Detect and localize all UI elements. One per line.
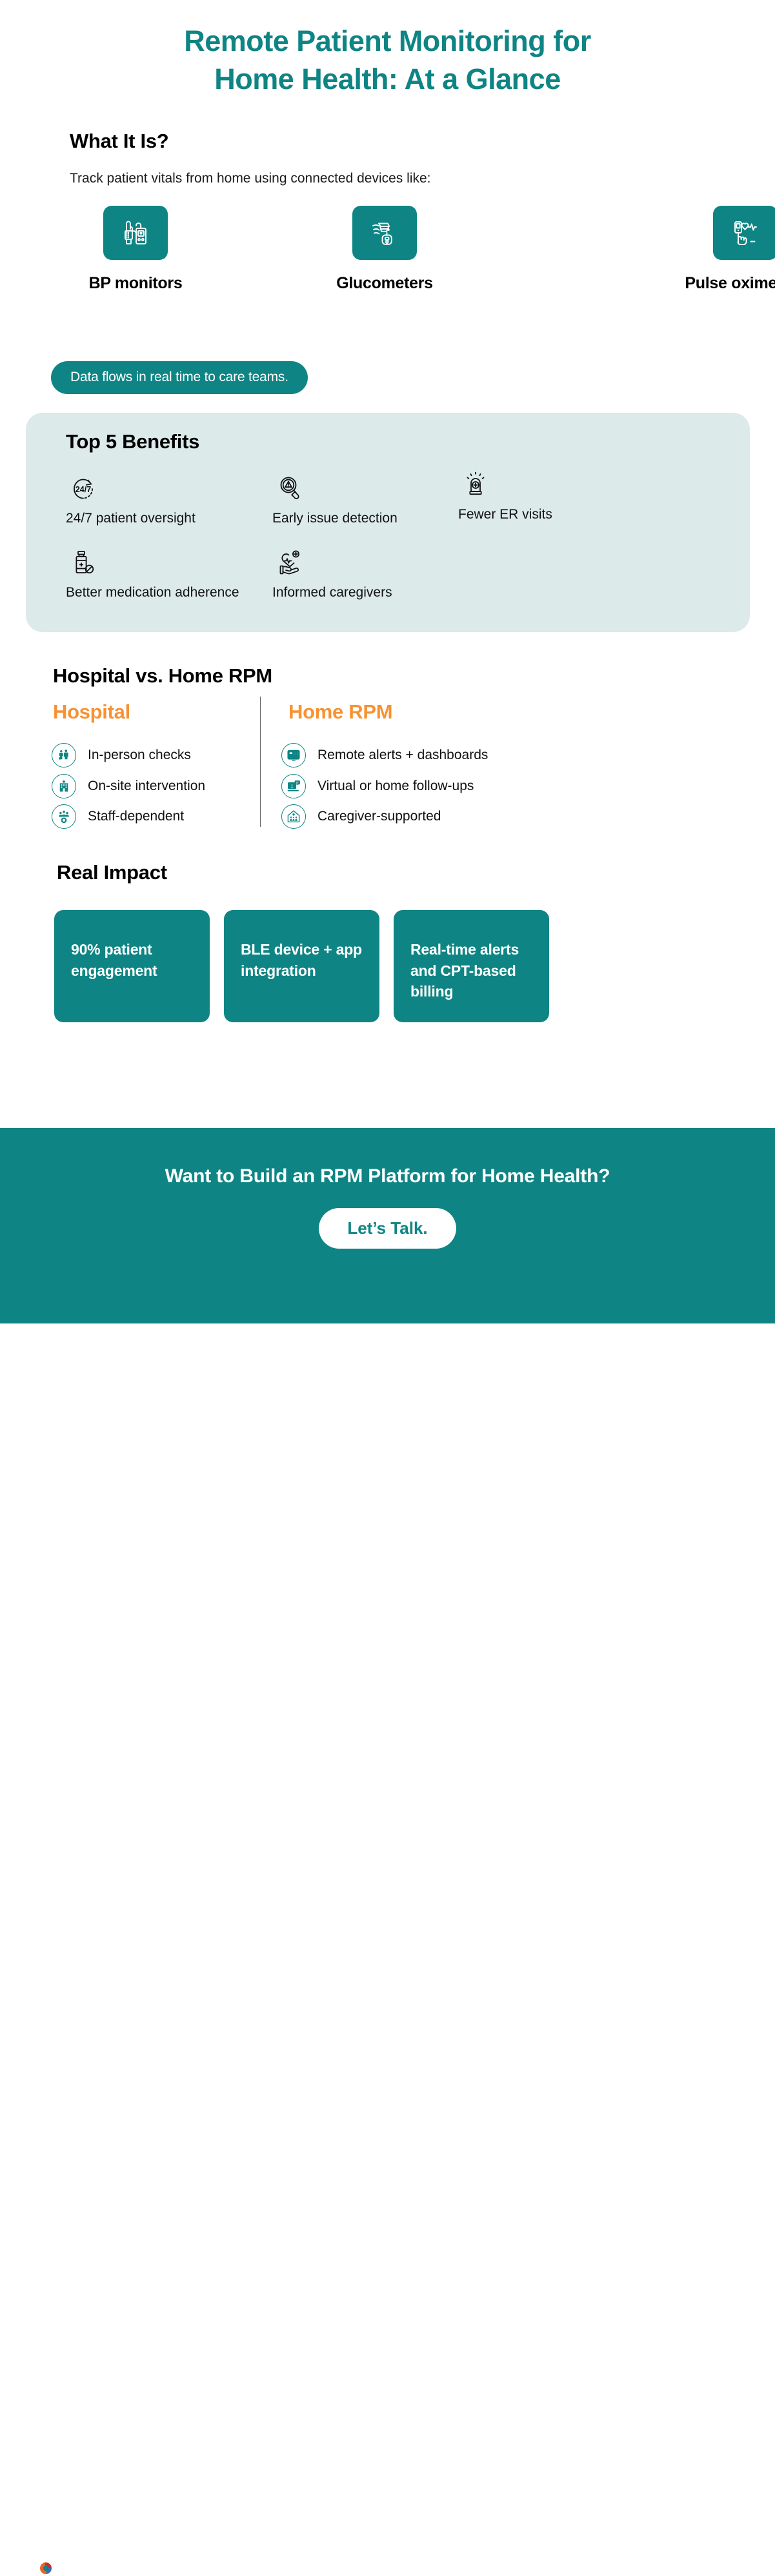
hand-heart-pulse-icon: [272, 544, 392, 580]
impact-heading: Real Impact: [57, 861, 167, 884]
svg-text:24/7: 24/7: [75, 485, 91, 494]
logo-line-1: MIND: [28, 2546, 98, 2561]
benefit-label-fewer-er-visits: Fewer ER visits: [458, 507, 552, 522]
dashboard-monitor-icon: [281, 743, 306, 768]
benefits-heading: Top 5 Benefits: [66, 430, 199, 453]
compare-row-caregiver-supported: Caregiver-supported: [281, 804, 441, 829]
benefit-label-informed-caregivers: Informed caregivers: [272, 585, 392, 600]
benefit-item-fewer-er-visits: Fewer ER visits: [458, 466, 552, 522]
compare-row-staff-dependent: Staff-dependent: [52, 804, 184, 829]
what-it-is-heading: What It Is?: [70, 130, 775, 153]
compare-label-in-person-checks: In-person checks: [88, 748, 191, 763]
compare-column-title-home-rpm: Home RPM: [288, 700, 392, 724]
compare-divider: [260, 697, 261, 827]
impact-card-engagement: 90% patient engagement: [54, 910, 210, 1022]
page-title-line-2: Home Health: At a Glance: [77, 60, 698, 98]
impact-card-alerts-billing: Real-time alerts and CPT-based billing: [394, 910, 549, 1022]
page-title: Remote Patient Monitoring for Home Healt…: [0, 0, 775, 99]
doctor-patient-icon: [52, 743, 76, 768]
compare-heading: Hospital vs. Home RPM: [53, 664, 272, 688]
video-call-laptop-icon: [281, 774, 306, 798]
benefit-label-24-7-oversight: 24/7 patient oversight: [66, 511, 196, 526]
benefit-item-medication-adherence: Better medication adherence: [66, 544, 239, 600]
footer-email[interactable]: contact@mindbowser.com: [219, 2553, 341, 2565]
logo-letter-b: B: [28, 2561, 39, 2575]
compare-row-virtual-follow-ups: Virtual or home follow-ups: [281, 774, 474, 798]
compare-row-on-site-intervention: On-site intervention: [52, 774, 205, 798]
clock-24-7-icon: 24/7: [66, 470, 196, 506]
device-item-pulse-oximeters: Pulse oximeters: [426, 206, 745, 293]
impact-card-list: 90% patient engagement BLE device + app …: [54, 910, 719, 1022]
device-list: BP monitors: [70, 206, 775, 296]
cta-title: Want to Build an RPM Platform for Home H…: [0, 1128, 775, 1187]
page-title-line-1: Remote Patient Monitoring for: [77, 22, 698, 60]
benefit-label-medication-adherence: Better medication adherence: [66, 585, 239, 600]
benefit-item-24-7-oversight: 24/7 24/7 patient oversight: [66, 470, 196, 526]
home-family-icon: [281, 804, 306, 829]
impact-card-ble-integration: BLE device + app integration: [224, 910, 379, 1022]
what-it-is-section: What It Is? Track patient vitals from ho…: [0, 130, 775, 296]
compare-label-remote-alerts: Remote alerts + dashboards: [317, 748, 488, 763]
benefit-item-informed-caregivers: Informed caregivers: [272, 544, 392, 600]
glucometer-icon: [367, 215, 402, 250]
pulse-oximeter-icon: [728, 215, 763, 250]
glucometer-icon-tile: [352, 206, 417, 260]
benefit-item-early-detection: Early issue detection: [272, 470, 398, 526]
emergency-light-icon: [458, 466, 552, 502]
compare-column-title-hospital: Hospital: [53, 700, 130, 724]
benefits-panel: Top 5 Benefits 24/7 24/7 patient oversig…: [26, 413, 750, 632]
device-label-glucometers: Glucometers: [336, 274, 433, 293]
data-flows-pill: Data flows in real time to care teams.: [51, 361, 308, 394]
mindbowser-logo: MIND B WSER: [28, 2546, 98, 2576]
device-item-bp-monitors: BP monitors: [71, 206, 200, 293]
compare-label-caregiver-supported: Caregiver-supported: [317, 809, 441, 824]
compare-label-on-site-intervention: On-site intervention: [88, 778, 205, 794]
compare-label-virtual-follow-ups: Virtual or home follow-ups: [317, 778, 474, 794]
what-it-is-subtitle: Track patient vitals from home using con…: [70, 171, 775, 186]
lets-talk-button[interactable]: Let’s Talk.: [319, 1208, 456, 1249]
logo-swoosh-icon: [40, 2562, 52, 2574]
logo-line-2: B WSER: [28, 2561, 98, 2575]
compare-label-staff-dependent: Staff-dependent: [88, 809, 184, 824]
device-label-pulse-oximeters: Pulse oximeters: [685, 274, 775, 293]
bp-monitor-icon: [118, 215, 153, 250]
magnifier-alert-icon: [272, 470, 398, 506]
footer-website[interactable]: www.mindbowser.com: [452, 2553, 729, 2565]
bp-monitor-icon-tile: [103, 206, 168, 260]
logo-letters-wser: WSER: [52, 2561, 98, 2575]
hospital-building-icon: [52, 774, 76, 798]
compare-row-remote-alerts: Remote alerts + dashboards: [281, 743, 488, 768]
team-gear-icon: [52, 804, 76, 829]
benefit-label-early-detection: Early issue detection: [272, 511, 398, 526]
footer: MIND B WSER contact@mindbowser.com www.m…: [0, 1259, 775, 1323]
pulse-oximeter-icon-tile: [713, 206, 775, 260]
device-item-glucometers: Glucometers: [241, 206, 385, 293]
compare-row-in-person-checks: In-person checks: [52, 743, 191, 768]
medicine-bottle-icon: [66, 544, 239, 580]
device-label-bp-monitors: BP monitors: [89, 274, 183, 293]
